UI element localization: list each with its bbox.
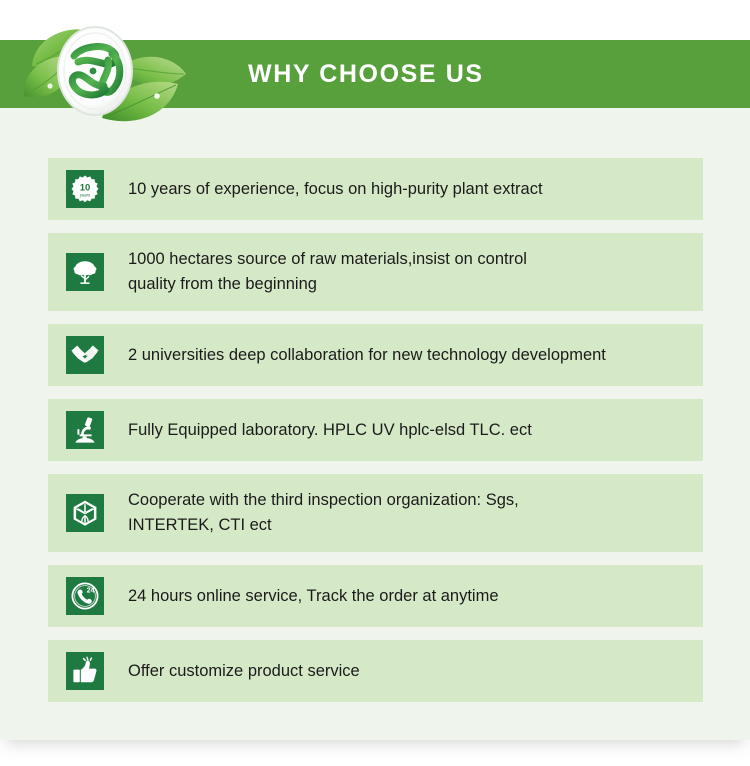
list-item[interactable]: Fully Equipped laboratory. HPLC UV hplc-… [48,399,703,461]
list-item-label: Fully Equipped laboratory. HPLC UV hplc-… [128,418,703,443]
microscope-icon [66,411,104,449]
tree-icon [66,253,104,291]
list-item[interactable]: 2 universities deep collaboration for ne… [48,324,703,386]
leaf-circle-logo [16,14,216,126]
cube-emblem-icon [66,494,104,532]
list-item-label: 24 hours online service, Track the order… [128,584,703,609]
list-item[interactable]: 10 years 10 years of experience, focus o… [48,158,703,220]
list-item-label: 10 years of experience, focus on high-pu… [128,177,703,202]
page-title: WHY CHOOSE US [248,40,708,108]
feature-list: 10 years 10 years of experience, focus o… [48,158,703,715]
list-item[interactable]: Offer customize product service [48,640,703,702]
thumbs-up-icon [66,652,104,690]
list-item-label: Cooperate with the third inspection orga… [128,488,703,538]
list-item[interactable]: 24 24 hours online service, Track the or… [48,565,703,627]
list-item-label: 1000 hectares source of raw materials,in… [128,247,703,297]
ten-years-badge-icon: 10 years [66,170,104,208]
list-item-label: 2 universities deep collaboration for ne… [128,343,703,368]
svg-text:years: years [80,192,90,197]
list-item[interactable]: Cooperate with the third inspection orga… [48,474,703,552]
list-item-label: Offer customize product service [128,659,703,684]
why-choose-us-page: WHY CHOOSE US [0,0,750,766]
twentyfour-hour-clock-icon: 24 [66,577,104,615]
handshake-icon [66,336,104,374]
list-item[interactable]: 1000 hectares source of raw materials,in… [48,233,703,311]
svg-text:24: 24 [87,586,95,595]
